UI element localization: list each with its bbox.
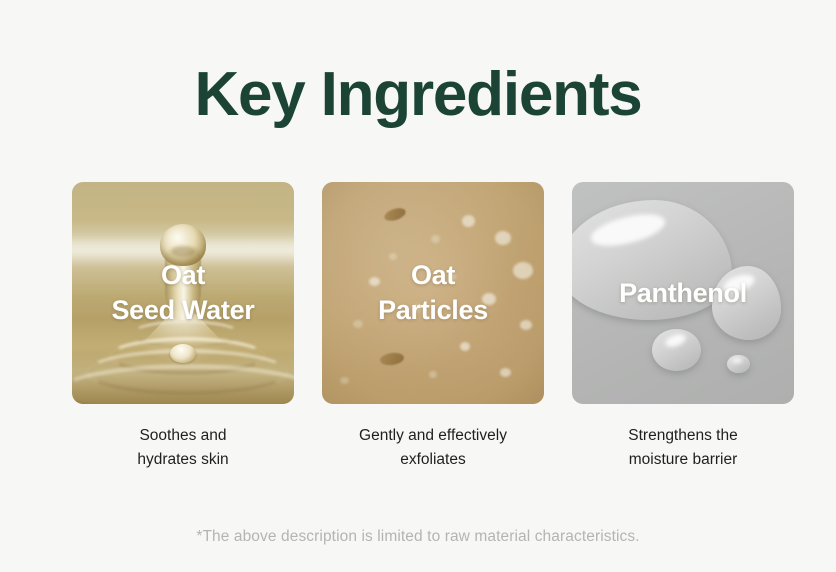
footnote-disclaimer: *The above description is limited to raw… <box>0 528 836 546</box>
ingredient-label-panthenol: Panthenol <box>572 182 794 404</box>
ingredient-card-oat-seed-water[interactable]: Oat Seed Water <box>72 182 294 404</box>
caption-oat-particles: Gently and effectively exfoliates <box>322 424 544 471</box>
ingredient-caption-row: Soothes and hydrates skin Gently and eff… <box>72 424 794 471</box>
ingredient-card-oat-particles[interactable]: Oat Particles <box>322 182 544 404</box>
key-ingredients-panel: Key Ingredients Oat Seed Water <box>0 0 836 572</box>
ingredient-card-row: Oat Seed Water <box>72 182 794 404</box>
ingredient-card-panthenol[interactable]: Panthenol <box>572 182 794 404</box>
page-title: Key Ingredients <box>0 62 836 127</box>
ingredient-label-oat-seed-water: Oat Seed Water <box>72 182 294 404</box>
caption-oat-seed-water: Soothes and hydrates skin <box>72 424 294 471</box>
ingredient-label-oat-particles: Oat Particles <box>322 182 544 404</box>
caption-panthenol: Strengthens the moisture barrier <box>572 424 794 471</box>
